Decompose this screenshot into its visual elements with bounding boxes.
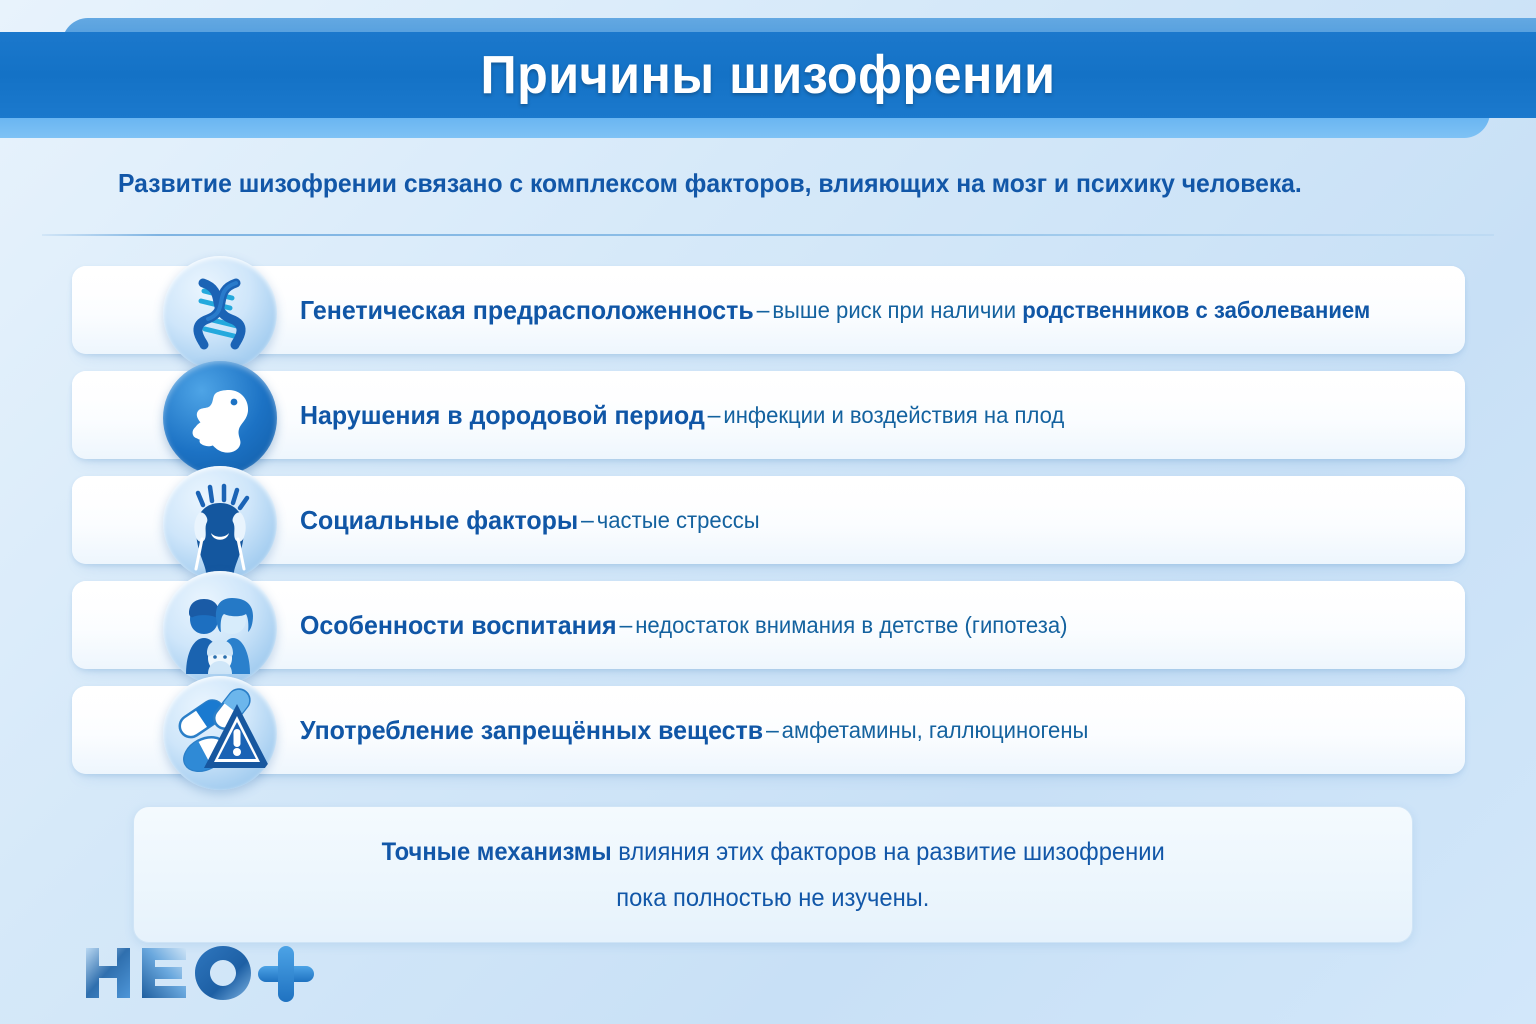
- factor-dash: –: [763, 717, 782, 745]
- conclusion-box: Точные механизмы влияния этих факторов н…: [133, 806, 1413, 943]
- factor-list: Генетическая предрасположенность – выше …: [0, 258, 1536, 783]
- factor-card: [72, 476, 1465, 564]
- factor-detail: недостаток внимания в детстве (гипотеза): [635, 612, 1067, 639]
- factor-text: Социальные факторы – частые стрессы: [300, 468, 760, 573]
- factor-lead: Особенности воспитания: [300, 610, 617, 641]
- family-icon: [163, 571, 277, 685]
- factor-lead: Нарушения в дородовой период: [300, 400, 705, 431]
- factor-text: Генетическая предрасположенность – выше …: [300, 258, 1370, 363]
- horizontal-divider: [42, 234, 1494, 236]
- list-item[interactable]: Особенности воспитания – недостаток вним…: [0, 573, 1536, 678]
- conclusion-emphasis: Точные механизмы: [381, 838, 611, 866]
- factor-lead: Употребление запрещённых веществ: [300, 715, 763, 746]
- stressed-person-icon: [163, 466, 277, 580]
- factor-dash: –: [705, 402, 724, 430]
- pills-warning-icon: [163, 676, 277, 790]
- factor-detail: выше риск при наличии родственников с за…: [772, 297, 1370, 324]
- factor-text: Употребление запрещённых веществ – амфет…: [300, 678, 1088, 783]
- fetus-icon: [163, 361, 277, 475]
- factor-dash: –: [754, 297, 773, 325]
- factor-dash: –: [578, 507, 597, 535]
- factor-dash: –: [617, 612, 636, 640]
- conclusion-line-1: Точные механизмы влияния этих факторов н…: [381, 829, 1164, 875]
- header-banner: Причины шизофрении: [0, 0, 1536, 140]
- factor-text: Особенности воспитания – недостаток вним…: [300, 573, 1067, 678]
- dna-helix-icon: [163, 256, 277, 370]
- list-item[interactable]: Употребление запрещённых веществ – амфет…: [0, 678, 1536, 783]
- factor-detail: инфекции и воздействия на плод: [723, 402, 1064, 429]
- conclusion-line-2: пока полностью не изучены.: [616, 875, 929, 921]
- brand-logo[interactable]: [80, 942, 380, 1004]
- conclusion-line-1-rest: влияния этих факторов на развитие шизофр…: [611, 838, 1164, 866]
- factor-lead: Социальные факторы: [300, 505, 578, 536]
- factor-detail: частые стрессы: [597, 507, 760, 534]
- factor-text: Нарушения в дородовой период – инфекции …: [300, 363, 1064, 468]
- subtitle-text: Развитие шизофрении связано с комплексом…: [118, 168, 1382, 199]
- page-title: Причины шизофрении: [54, 32, 1482, 118]
- list-item[interactable]: Нарушения в дородовой период – инфекции …: [0, 363, 1536, 468]
- factor-lead: Генетическая предрасположенность: [300, 295, 754, 326]
- factor-detail: амфетамины, галлюциногены: [782, 717, 1089, 744]
- list-item[interactable]: Генетическая предрасположенность – выше …: [0, 258, 1536, 363]
- list-item[interactable]: Социальные факторы – частые стрессы: [0, 468, 1536, 573]
